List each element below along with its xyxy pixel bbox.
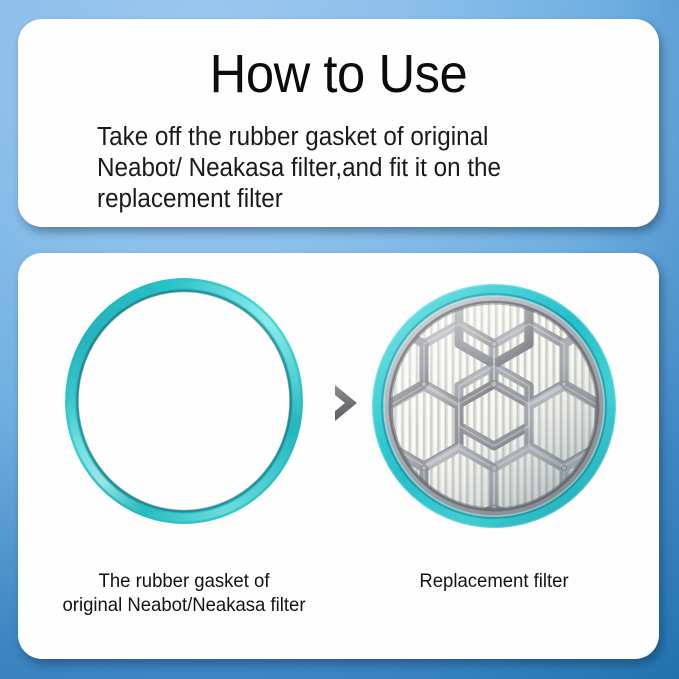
illustration-row: The rubber gasket of original Neabot/Nea… [18, 253, 659, 659]
caption-gasket-line-2: original Neabot/Neakasa filter [51, 593, 317, 617]
rubber-gasket-art [59, 277, 309, 535]
page-title: How to Use [37, 47, 640, 101]
honeycomb-filter-icon [369, 277, 619, 535]
caption-gasket-line-1: The rubber gasket of [51, 569, 317, 593]
instructions-line-1: Take off the rubber gasket of original [97, 122, 602, 153]
replacement-filter-art [369, 277, 619, 535]
instructions-line-2: Neabot/ Neakasa filter,and fit it on the [97, 153, 602, 184]
instructions-line-3: replacement filter [97, 184, 602, 215]
instructions-body: Take off the rubber gasket of original N… [97, 122, 602, 215]
caption-rubber-gasket: The rubber gasket of original Neabot/Nea… [51, 569, 317, 617]
instructions-card: How to Use Take off the rubber gasket of… [18, 19, 659, 227]
caption-replacement-filter: Replacement filter [361, 569, 627, 593]
caption-filter-line-1: Replacement filter [361, 569, 627, 593]
figure-replacement-filter: Replacement filter [354, 277, 634, 535]
figure-rubber-gasket: The rubber gasket of original Neabot/Nea… [44, 277, 324, 535]
product-instruction-image: How to Use Take off the rubber gasket of… [0, 0, 679, 679]
rubber-gasket-ring-icon [65, 278, 303, 524]
